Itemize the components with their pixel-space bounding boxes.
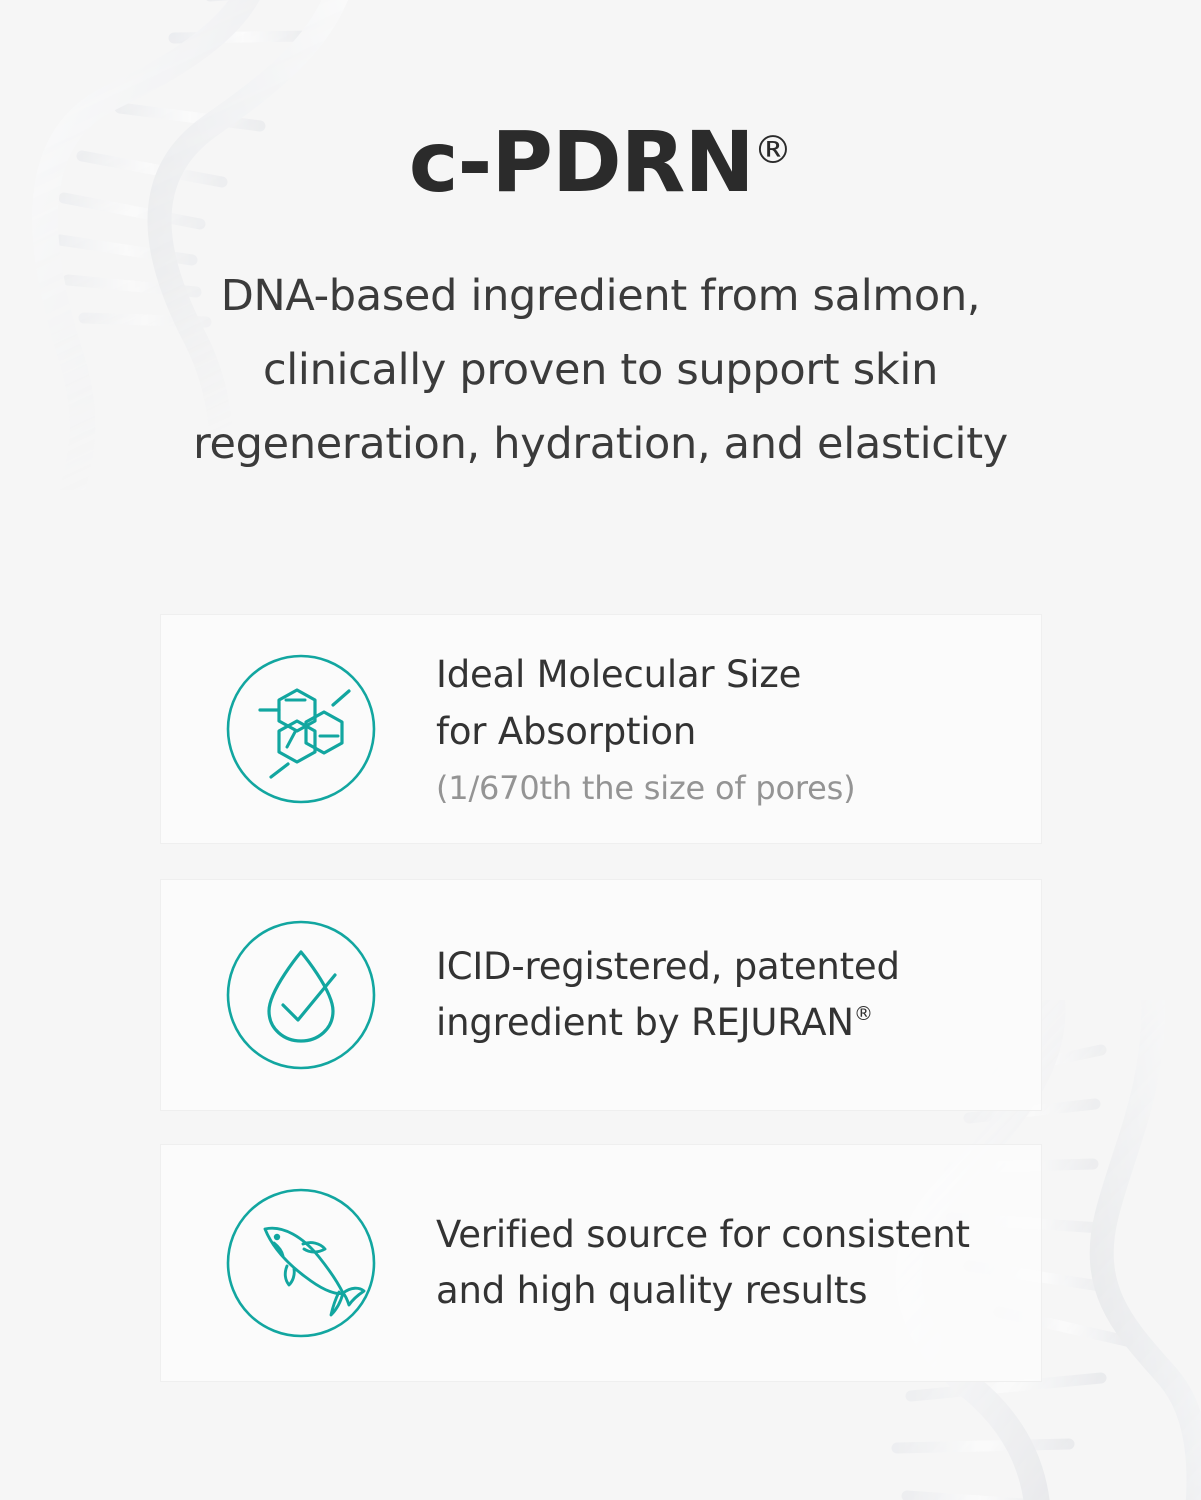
feature-title-line-2-text: ingredient by REJURAN [436, 1001, 854, 1044]
feature-title-line-1: Ideal Molecular Size [436, 647, 1021, 703]
water-drop-check-icon [223, 918, 378, 1073]
molecule-icon [223, 652, 378, 807]
registered-trademark-symbol: ® [754, 128, 793, 173]
feature-card-text: Verified source for consistent and high … [378, 1207, 1041, 1319]
feature-card-text: Ideal Molecular Size for Absorption (1/6… [378, 647, 1041, 810]
header: c-PDRN® DNA-based ingredient from salmon… [0, 0, 1201, 482]
subtitle-line-3: regeneration, hydration, and elasticity [151, 408, 1051, 482]
feature-title-line-1: ICID-registered, patented [436, 939, 1021, 995]
registered-trademark-symbol: ® [854, 1002, 873, 1025]
feature-title-line-1: Verified source for consistent [436, 1207, 1021, 1263]
infographic-canvas: c-PDRN® DNA-based ingredient from salmon… [0, 0, 1201, 1500]
feature-card-molecular-size: Ideal Molecular Size for Absorption (1/6… [160, 614, 1042, 844]
feature-card-verified-source: Verified source for consistent and high … [160, 1144, 1042, 1382]
subtitle-line-2: clinically proven to support skin [151, 334, 1051, 408]
feature-title-line-2: and high quality results [436, 1263, 1021, 1319]
feature-card-title: Ideal Molecular Size for Absorption [436, 647, 1021, 759]
feature-card-subtext: (1/670th the size of pores) [436, 766, 1021, 811]
subtitle-line-1: DNA-based ingredient from salmon, [151, 260, 1051, 334]
feature-card-list: Ideal Molecular Size for Absorption (1/6… [160, 614, 1042, 1382]
feature-card-title: ICID-registered, patented ingredient by … [436, 939, 1021, 1051]
subtitle: DNA-based ingredient from salmon, clinic… [151, 206, 1051, 482]
brand-name: c-PDRN [409, 113, 754, 211]
fish-icon [223, 1186, 378, 1341]
feature-title-line-2: ingredient by REJURAN® [436, 995, 1021, 1051]
feature-card-text: ICID-registered, patented ingredient by … [378, 939, 1041, 1051]
feature-title-line-2: for Absorption [436, 704, 1021, 760]
feature-card-icid-registered: ICID-registered, patented ingredient by … [160, 879, 1042, 1111]
feature-card-title: Verified source for consistent and high … [436, 1207, 1021, 1319]
page-title: c-PDRN® [0, 0, 1201, 206]
